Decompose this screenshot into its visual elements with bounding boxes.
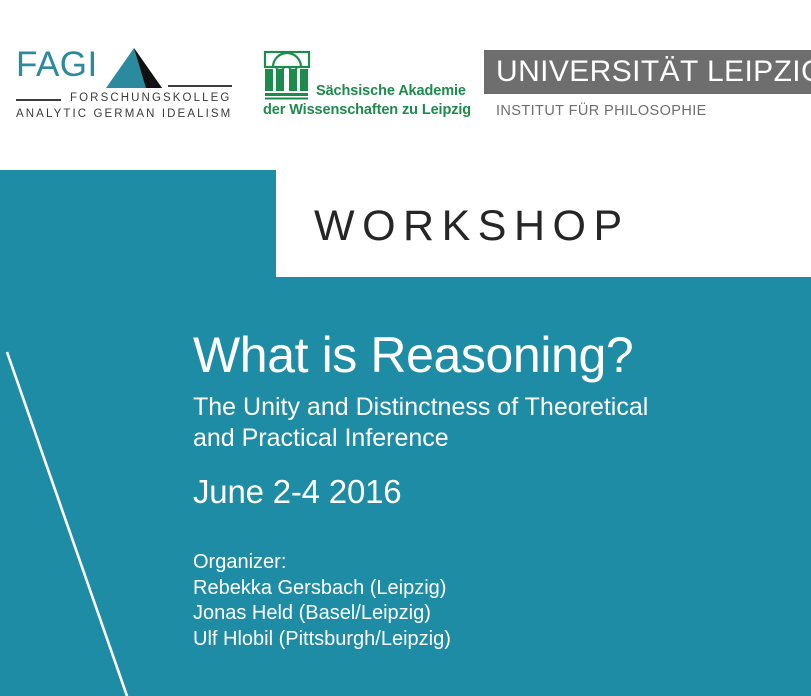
- workshop-poster: FAGI FORSCHUNGSKOLLEG ANALYTIC GERMAN ID…: [0, 0, 811, 696]
- arcade-window-icon: [263, 50, 311, 100]
- page-title: What is Reasoning?: [193, 327, 633, 383]
- fagi-logo: FAGI FORSCHUNGSKOLLEG ANALYTIC GERMAN ID…: [16, 46, 231, 126]
- fagi-tagline-line1: FORSCHUNGSKOLLEG: [70, 92, 231, 104]
- saechsische-akademie-logo: Sächsische Akademie der Wissenschaften z…: [263, 50, 443, 120]
- organizer-name: Ulf Hlobil (Pittsburgh/Leipzig): [193, 627, 451, 653]
- workshop-band: WORKSHOP: [276, 170, 811, 277]
- fagi-rule-left: [16, 99, 61, 101]
- workshop-label: WORKSHOP: [314, 202, 630, 251]
- fagi-rule-right: [168, 85, 232, 87]
- subtitle-line-2: and Practical Inference: [193, 423, 753, 454]
- organizer-name: Jonas Held (Basel/Leipzig): [193, 601, 451, 627]
- academy-line2: der Wissenschaften zu Leipzig: [263, 101, 471, 120]
- subtitle-line-1: The Unity and Distinctness of Theoretica…: [193, 392, 753, 423]
- institut-fuer-philosophie-label: INSTITUT FÜR PHILOSOPHIE: [496, 103, 707, 119]
- organizer-label: Organizer:: [193, 550, 451, 576]
- fagi-wordmark: FAGI: [16, 46, 98, 84]
- poster-body: WORKSHOP What is Reasoning? The Unity an…: [0, 170, 811, 696]
- universitaet-leipzig-bar: UNIVERSITÄT LEIPZIG: [484, 50, 811, 94]
- event-dates: June 2-4 2016: [193, 473, 401, 511]
- page-subtitle: The Unity and Distinctness of Theoretica…: [193, 392, 753, 454]
- logo-row: FAGI FORSCHUNGSKOLLEG ANALYTIC GERMAN ID…: [0, 0, 811, 170]
- mountain-triangle-icon: [104, 48, 166, 88]
- organizer-name: Rebekka Gersbach (Leipzig): [193, 576, 451, 602]
- organizer-block: Organizer: Rebekka Gersbach (Leipzig) Jo…: [193, 550, 451, 652]
- universitaet-leipzig-title: UNIVERSITÄT LEIPZIG: [496, 55, 811, 89]
- fagi-tagline-line2: ANALYTIC GERMAN IDEALISM: [16, 108, 232, 120]
- academy-line1: Sächsische Akademie: [316, 82, 466, 101]
